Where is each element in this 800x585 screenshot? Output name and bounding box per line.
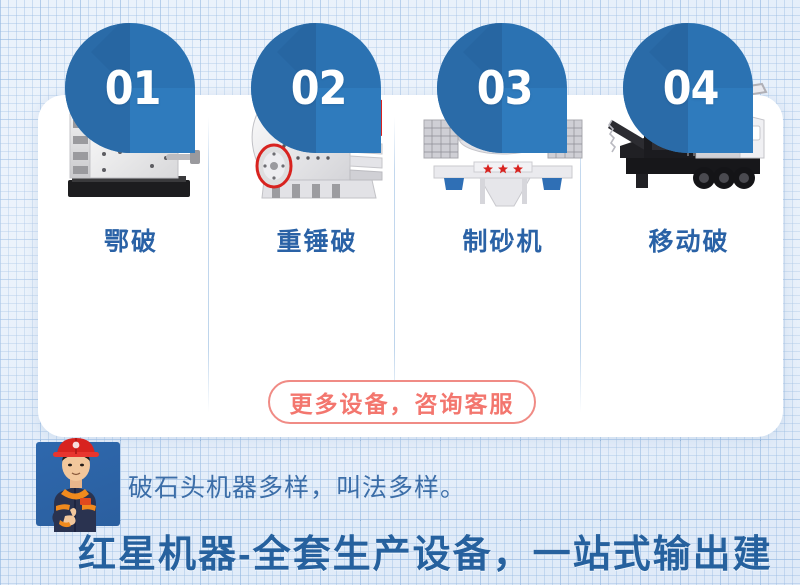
footer-tagline: 破石头机器多样，叫法多样。	[128, 468, 466, 504]
product-label: 移动破	[596, 222, 782, 258]
avatar	[36, 442, 120, 526]
badge-number: 01	[105, 65, 161, 111]
product-badge-1: 01	[65, 23, 195, 153]
worker-illustration	[32, 432, 124, 532]
badge-number: 04	[663, 65, 719, 111]
badge-number: 02	[291, 65, 347, 111]
product-label: 鄂破	[38, 222, 224, 258]
product-badge-3: 03	[437, 23, 567, 153]
promotional-banner: 01 02 03 04	[0, 0, 800, 585]
product-badge-4: 04	[623, 23, 753, 153]
product-label: 制砂机	[410, 222, 596, 258]
footer-headline: 红星机器-全套生产设备，一站式输出建	[78, 523, 773, 578]
badge-number: 03	[477, 65, 533, 111]
product-label: 重锤破	[224, 222, 410, 258]
consult-service-button[interactable]: 更多设备，咨询客服	[268, 380, 536, 424]
product-badge-2: 02	[251, 23, 381, 153]
